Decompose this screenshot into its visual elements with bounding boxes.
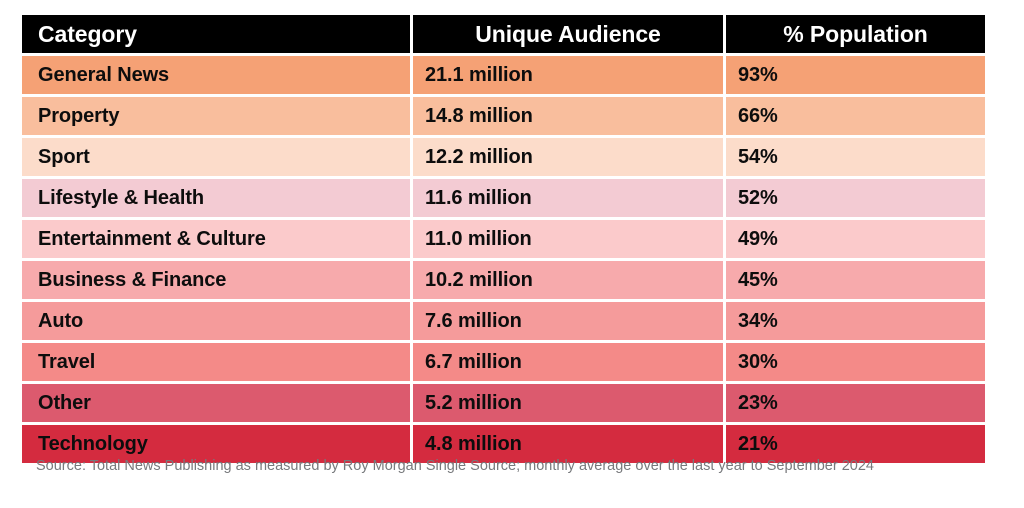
cell-percent-population: 52%	[726, 179, 985, 217]
table-row: Business & Finance 10.2 million 45%	[22, 261, 985, 299]
table-row: Entertainment & Culture 11.0 million 49%	[22, 220, 985, 258]
cell-unique-audience: 11.0 million	[413, 220, 723, 258]
cell-category: Other	[22, 384, 410, 422]
cell-percent-population: 54%	[726, 138, 985, 176]
cell-unique-audience: 12.2 million	[413, 138, 723, 176]
column-header-category: Category	[22, 15, 410, 53]
cell-percent-population: 45%	[726, 261, 985, 299]
cell-percent-population: 23%	[726, 384, 985, 422]
table-row: Auto 7.6 million 34%	[22, 302, 985, 340]
page-root: Category Unique Audience % Population Ge…	[0, 0, 1024, 508]
cell-category: Property	[22, 97, 410, 135]
source-note: Source: Total News Publishing as measure…	[36, 458, 874, 474]
cell-category: Business & Finance	[22, 261, 410, 299]
table-header-row: Category Unique Audience % Population	[22, 15, 985, 53]
cell-percent-population: 30%	[726, 343, 985, 381]
table-row: General News 21.1 million 93%	[22, 56, 985, 94]
cell-percent-population: 66%	[726, 97, 985, 135]
table-row: Other 5.2 million 23%	[22, 384, 985, 422]
cell-unique-audience: 21.1 million	[413, 56, 723, 94]
cell-percent-population: 49%	[726, 220, 985, 258]
audience-table: Category Unique Audience % Population Ge…	[22, 15, 985, 463]
cell-unique-audience: 7.6 million	[413, 302, 723, 340]
cell-percent-population: 93%	[726, 56, 985, 94]
cell-category: General News	[22, 56, 410, 94]
table-row: Sport 12.2 million 54%	[22, 138, 985, 176]
cell-percent-population: 34%	[726, 302, 985, 340]
column-header-unique-audience: Unique Audience	[413, 15, 723, 53]
table-row: Travel 6.7 million 30%	[22, 343, 985, 381]
cell-category: Lifestyle & Health	[22, 179, 410, 217]
cell-unique-audience: 14.8 million	[413, 97, 723, 135]
cell-category: Auto	[22, 302, 410, 340]
cell-unique-audience: 11.6 million	[413, 179, 723, 217]
cell-category: Entertainment & Culture	[22, 220, 410, 258]
cell-unique-audience: 6.7 million	[413, 343, 723, 381]
cell-category: Sport	[22, 138, 410, 176]
table-row: Lifestyle & Health 11.6 million 52%	[22, 179, 985, 217]
column-header-percent-population: % Population	[726, 15, 985, 53]
cell-category: Travel	[22, 343, 410, 381]
cell-unique-audience: 5.2 million	[413, 384, 723, 422]
table-row: Property 14.8 million 66%	[22, 97, 985, 135]
cell-unique-audience: 10.2 million	[413, 261, 723, 299]
